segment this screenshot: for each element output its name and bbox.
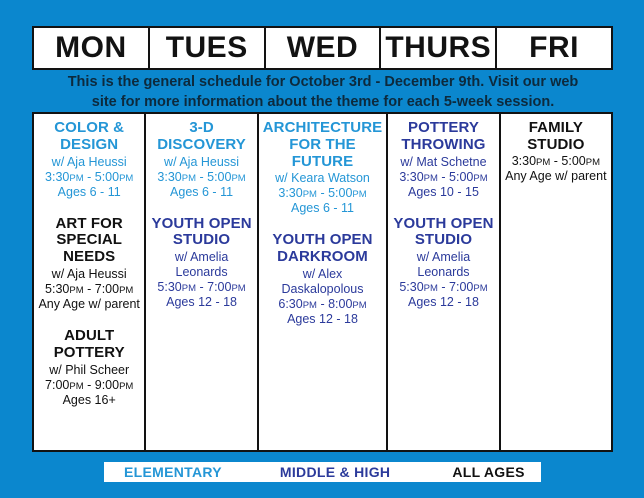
class-ages: Ages 10 - 15 <box>392 185 494 200</box>
class-title: ADULT POTTERY <box>38 328 140 362</box>
class-block[interactable]: YOUTH OPEN STUDIOw/ Amelia Leonards5:30P… <box>392 216 494 311</box>
day-header-label: FRI <box>529 33 579 63</box>
class-time: 5:30PM - 7:00PM <box>150 280 252 295</box>
class-title: ART FOR SPECIAL NEEDS <box>38 216 140 266</box>
class-block[interactable]: COLOR & DESIGNw/ Aja Heussi3:30PM - 5:00… <box>38 120 140 200</box>
class-ages: Ages 12 - 18 <box>150 295 252 310</box>
schedule-column-wed: ARCHITECTURE FOR THE FUTUREw/ Keara Wats… <box>259 114 389 450</box>
class-time: 7:00PM - 9:00PM <box>38 378 140 393</box>
class-time: 5:30PM - 7:00PM <box>392 280 494 295</box>
class-time: 6:30PM - 8:00PM <box>263 297 383 312</box>
class-ages: Ages 12 - 18 <box>392 295 494 310</box>
intro-line-2: site for more information about the them… <box>28 92 618 112</box>
day-header-mon: MON <box>34 28 150 68</box>
class-instructor: w/ Keara Watson <box>263 171 383 186</box>
schedule-poster: MON TUES WED THURS FRI This is the gener… <box>0 0 644 498</box>
schedule-column-thurs: POTTERY THROWINGw/ Mat Schetne3:30PM - 5… <box>388 114 500 450</box>
class-title: COLOR & DESIGN <box>38 120 140 154</box>
intro-line-1: This is the general schedule for October… <box>28 72 618 92</box>
class-block[interactable]: YOUTH OPEN DARKROOMw/ Alex Daskalopolous… <box>263 232 383 327</box>
intro-text: This is the general schedule for October… <box>28 72 618 112</box>
schedule-column-fri: FAMILY STUDIO3:30PM - 5:00PMAny Age w/ p… <box>501 114 611 450</box>
day-header-thurs: THURS <box>381 28 497 68</box>
class-block[interactable]: POTTERY THROWINGw/ Mat Schetne3:30PM - 5… <box>392 120 494 200</box>
class-time: 3:30PM - 5:00PM <box>263 186 383 201</box>
class-block[interactable]: FAMILY STUDIO3:30PM - 5:00PMAny Age w/ p… <box>505 120 607 184</box>
class-instructor: w/ Amelia Leonards <box>392 250 494 280</box>
legend-item-all-ages: ALL AGES <box>452 464 524 480</box>
class-title: YOUTH OPEN STUDIO <box>392 216 494 250</box>
class-title: POTTERY THROWING <box>392 120 494 154</box>
class-title: FAMILY STUDIO <box>505 120 607 154</box>
class-block[interactable]: ARCHITECTURE FOR THE FUTUREw/ Keara Wats… <box>263 120 383 216</box>
class-block[interactable]: 3-D DISCOVERYw/ Aja Heussi3:30PM - 5:00P… <box>150 120 252 200</box>
class-time: 5:30PM - 7:00PM <box>38 282 140 297</box>
day-header-label: TUES <box>166 33 248 63</box>
class-title: ARCHITECTURE FOR THE FUTURE <box>263 120 383 170</box>
class-ages: Ages 16+ <box>38 393 140 408</box>
class-time: 3:30PM - 5:00PM <box>505 154 607 169</box>
day-header-tues: TUES <box>150 28 266 68</box>
class-block[interactable]: ADULT POTTERYw/ Phil Scheer7:00PM - 9:00… <box>38 328 140 408</box>
day-header-label: THURS <box>385 33 491 63</box>
legend-item-middle-high: MIDDLE & HIGH <box>280 464 390 480</box>
legend-bar: ELEMENTARY MIDDLE & HIGH ALL AGES <box>32 462 613 482</box>
class-instructor: w/ Aja Heussi <box>150 155 252 170</box>
legend-strip: ELEMENTARY MIDDLE & HIGH ALL AGES <box>104 462 541 482</box>
day-header-wed: WED <box>266 28 382 68</box>
class-ages: Ages 6 - 11 <box>38 185 140 200</box>
class-block[interactable]: ART FOR SPECIAL NEEDSw/ Aja Heussi5:30PM… <box>38 216 140 312</box>
class-title: YOUTH OPEN STUDIO <box>150 216 252 250</box>
day-header-fri: FRI <box>497 28 611 68</box>
class-ages: Ages 6 - 11 <box>150 185 252 200</box>
day-header-row: MON TUES WED THURS FRI <box>32 26 613 70</box>
class-instructor: w/ Phil Scheer <box>38 363 140 378</box>
class-block[interactable]: YOUTH OPEN STUDIOw/ Amelia Leonards5:30P… <box>150 216 252 311</box>
class-time: 3:30PM - 5:00PM <box>38 170 140 185</box>
class-title: YOUTH OPEN DARKROOM <box>263 232 383 266</box>
class-ages: Ages 6 - 11 <box>263 201 383 216</box>
class-instructor: w/ Alex Daskalopolous <box>263 267 383 297</box>
class-instructor: w/ Aja Heussi <box>38 155 140 170</box>
class-title: 3-D DISCOVERY <box>150 120 252 154</box>
class-instructor: w/ Amelia Leonards <box>150 250 252 280</box>
day-header-label: MON <box>55 33 127 63</box>
day-header-label: WED <box>287 33 359 63</box>
legend-item-elementary: ELEMENTARY <box>124 464 222 480</box>
schedule-column-tues: 3-D DISCOVERYw/ Aja Heussi3:30PM - 5:00P… <box>146 114 258 450</box>
class-ages: Any Age w/ parent <box>505 169 607 184</box>
schedule-grid: COLOR & DESIGNw/ Aja Heussi3:30PM - 5:00… <box>32 112 613 452</box>
class-instructor: w/ Mat Schetne <box>392 155 494 170</box>
class-time: 3:30PM - 5:00PM <box>150 170 252 185</box>
schedule-column-mon: COLOR & DESIGNw/ Aja Heussi3:30PM - 5:00… <box>34 114 146 450</box>
class-ages: Ages 12 - 18 <box>263 312 383 327</box>
class-time: 3:30PM - 5:00PM <box>392 170 494 185</box>
class-instructor: w/ Aja Heussi <box>38 267 140 282</box>
class-ages: Any Age w/ parent <box>38 297 140 312</box>
